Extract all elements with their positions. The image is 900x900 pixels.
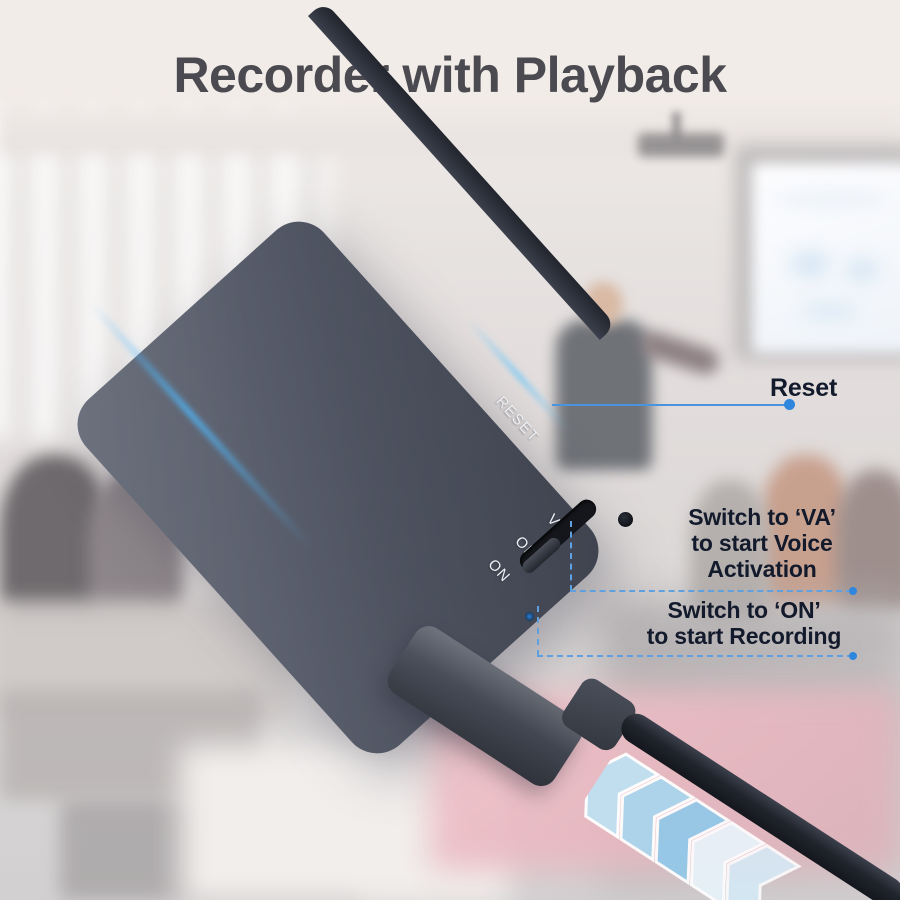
presenter-figure [556,320,652,470]
page-title: Recorder with Playback [0,46,900,104]
screen-content-blob [770,192,890,206]
callout-label-reset: Reset [770,374,837,402]
callout-line-on-vertical [537,606,539,656]
product-marketing-image: Recorder with Playback RESET VA OFF ON R… [0,0,900,900]
screen-content-blob [790,250,830,278]
led-indicator-icon [525,612,534,621]
callout-dot-va [849,587,857,595]
microphone-hole-icon [618,512,633,527]
callout-label-on: Switch to ‘ON’ to start Recording [617,598,871,650]
callout-line-va-vertical [570,521,572,591]
projector-icon [638,133,724,157]
callout-line-reset [552,404,790,406]
callout-line-on-horizontal [537,655,853,657]
callout-dot-on [849,652,857,660]
screen-content-blob [800,300,860,322]
callout-line-va-horizontal [570,590,852,592]
callout-label-va: Switch to ‘VA’ to start Voice Activation [653,505,871,582]
screen-content-blob [845,258,879,282]
